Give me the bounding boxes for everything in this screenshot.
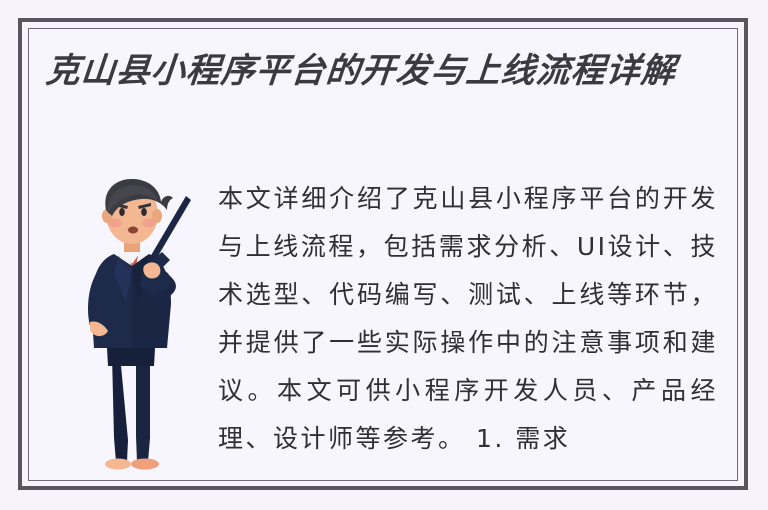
article-poster: 克山县小程序平台的开发与上线流程详解 xyxy=(0,0,768,510)
article-summary: 本文详细介绍了克山县小程序平台的开发与上线流程，包括需求分析、UI设计、技术选型… xyxy=(218,175,718,463)
page-title: 克山县小程序平台的开发与上线流程详解 xyxy=(44,48,720,95)
businessman-illustration xyxy=(70,170,210,475)
poster-content: 克山县小程序平台的开发与上线流程详解 xyxy=(30,30,737,480)
